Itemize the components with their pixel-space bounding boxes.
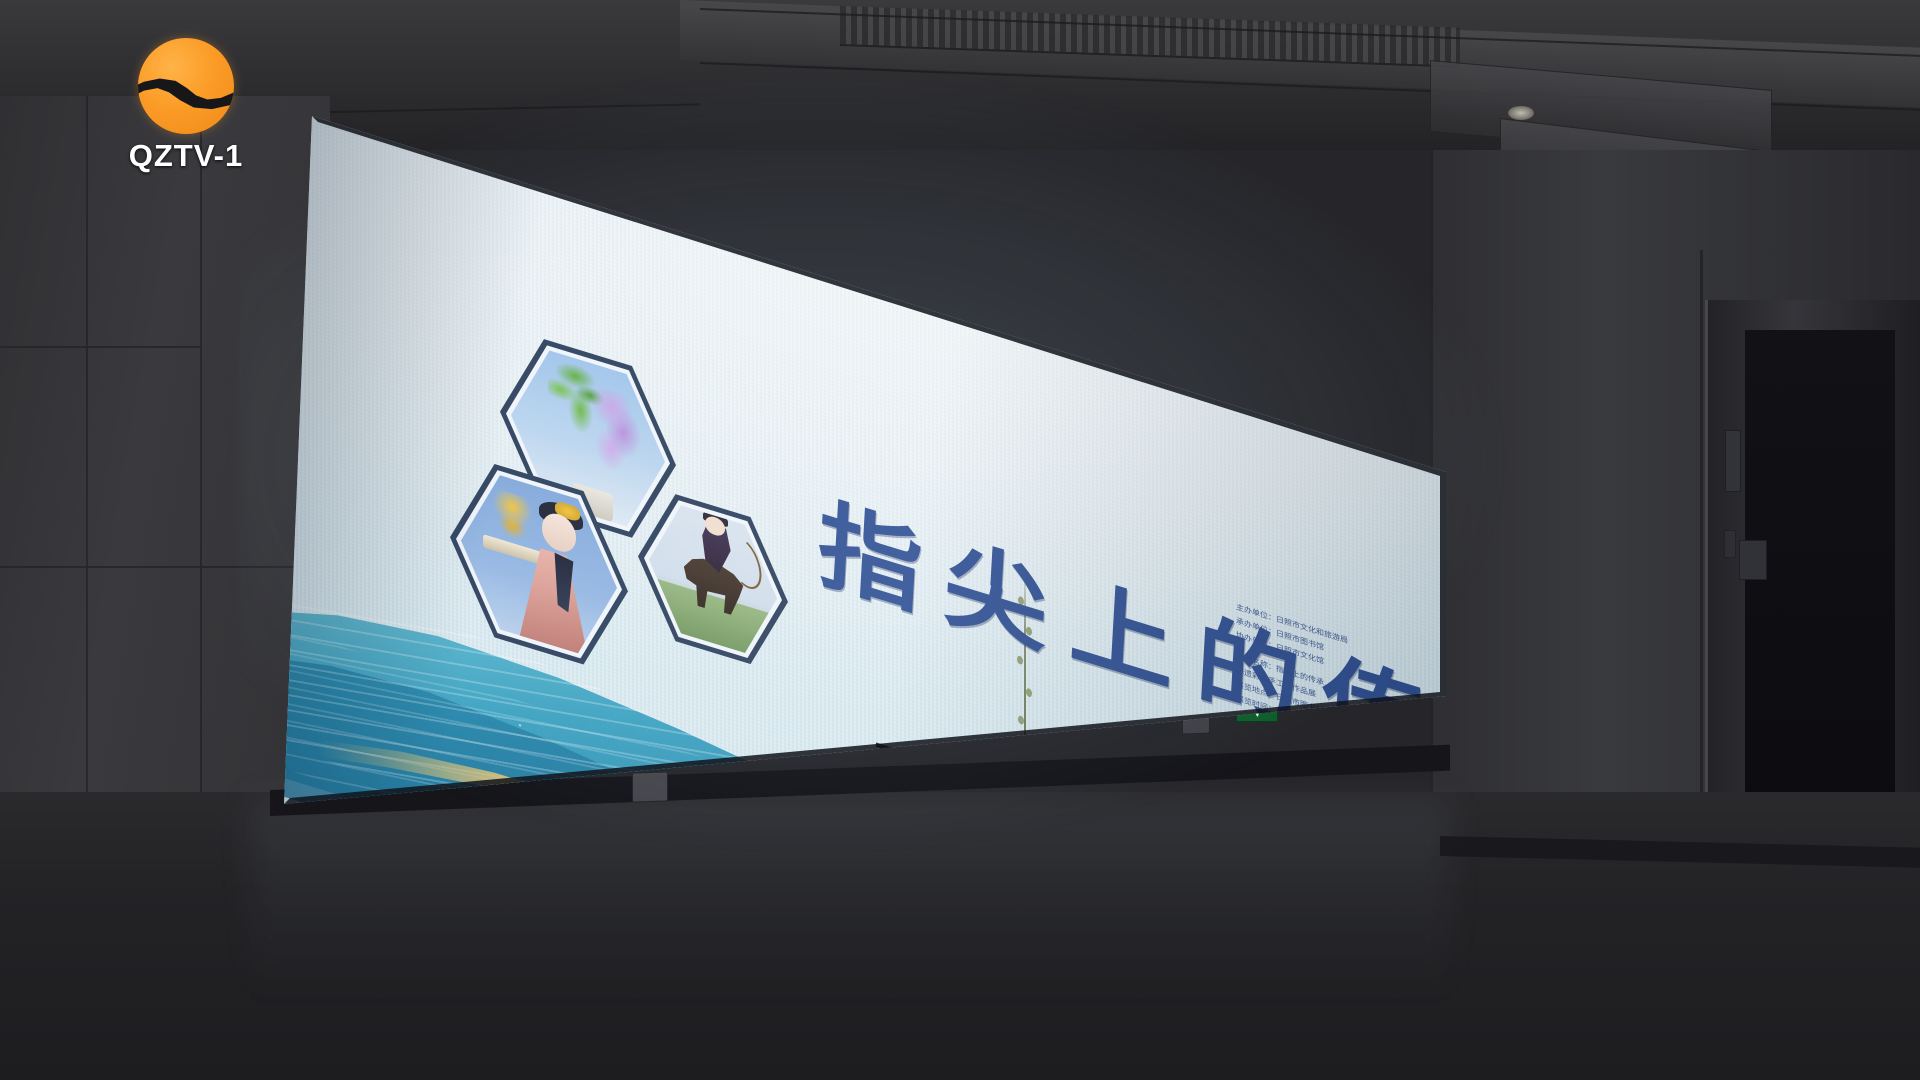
floor-reflection: [250, 800, 1450, 1000]
door-handle[interactable]: [1725, 430, 1741, 492]
broadcast-frame: 指尖上的传承 非遗彩扎手工艺作品展 主办单位：日照市文化和旅游局 承办单位：日照…: [0, 0, 1920, 1080]
wall-switch-panel[interactable]: [1739, 540, 1767, 580]
channel-label: QZTV-1: [129, 138, 244, 174]
sprig-bud: [1019, 775, 1025, 785]
wall-seam: [200, 96, 202, 856]
qztv-wave-logo-icon: [138, 38, 234, 134]
sprig-bud: [1025, 749, 1031, 759]
wall-marker: [1724, 530, 1736, 558]
wall-seam: [0, 346, 200, 348]
ceiling-downlight: [1508, 106, 1534, 120]
banner-canvas: 指尖上的传承 非遗彩扎手工艺作品展 主办单位：日照市文化和旅游局 承办单位：日照…: [278, 104, 1446, 816]
banner-artwork: 指尖上的传承 非遗彩扎手工艺作品展 主办单位：日照市文化和旅游局 承办单位：日照…: [278, 104, 1446, 816]
wall-seam: [1700, 250, 1703, 850]
channel-bug: QZTV-1: [96, 38, 276, 178]
banner-subtitle: 非遗彩扎手工艺作品展: [972, 756, 1392, 816]
wave-swoosh-shape: [138, 74, 234, 114]
doorway-opening[interactable]: [1745, 330, 1895, 840]
deep-blue-ridge-graphic: [958, 788, 1446, 816]
led-banner-wall: 指尖上的传承 非遗彩扎手工艺作品展 主办单位：日照市文化和旅游局 承办单位：日照…: [278, 104, 1446, 816]
banner-surface: 指尖上的传承 非遗彩扎手工艺作品展 主办单位：日照市文化和旅游局 承办单位：日照…: [278, 104, 1446, 816]
subtitle-dash: [876, 742, 962, 773]
